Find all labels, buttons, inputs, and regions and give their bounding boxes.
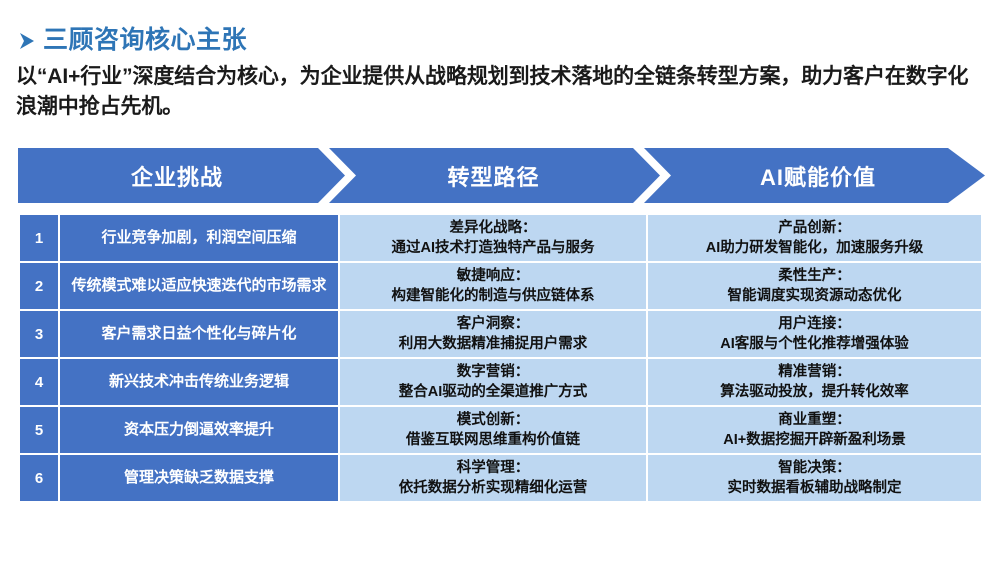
value-cell: 用户连接： AI客服与个性化推荐增强体验	[647, 310, 982, 358]
path-desc: 整合AI驱动的全渠道推广方式	[340, 382, 646, 402]
row-number: 5	[19, 406, 59, 454]
path-desc: 借鉴互联网思维重构价值链	[340, 430, 646, 450]
value-desc: 算法驱动投放，提升转化效率	[648, 382, 981, 402]
table-row: 1 行业竞争加剧，利润空间压缩 差异化战略： 通过AI技术打造独特产品与服务 产…	[19, 214, 982, 262]
path-title: 敏捷响应：	[340, 266, 646, 286]
table-row: 6 管理决策缺乏数据支撑 科学管理： 依托数据分析实现精细化运营 智能决策： 实…	[19, 454, 982, 502]
value-cell: 产品创新： AI助力研发智能化，加速服务升级	[647, 214, 982, 262]
path-cell: 科学管理： 依托数据分析实现精细化运营	[339, 454, 647, 502]
path-title: 客户洞察：	[340, 314, 646, 334]
value-desc: 智能调度实现资源动态优化	[648, 286, 981, 306]
row-number: 1	[19, 214, 59, 262]
value-title: 用户连接：	[648, 314, 981, 334]
path-desc: 构建智能化的制造与供应链体系	[340, 286, 646, 306]
value-title: 柔性生产：	[648, 266, 981, 286]
row-number: 6	[19, 454, 59, 502]
value-title: 智能决策：	[648, 458, 981, 478]
path-title: 差异化战略：	[340, 218, 646, 238]
page-heading: 三顾咨询核心主张	[17, 28, 247, 53]
comparison-table: 1 行业竞争加剧，利润空间压缩 差异化战略： 通过AI技术打造独特产品与服务 产…	[18, 213, 983, 503]
path-cell: 差异化战略： 通过AI技术打造独特产品与服务	[339, 214, 647, 262]
challenge-cell: 新兴技术冲击传统业务逻辑	[59, 358, 339, 406]
arrowhead-bullet-icon	[17, 30, 37, 52]
value-desc: AI助力研发智能化，加速服务升级	[648, 238, 981, 258]
challenge-cell: 资本压力倒逼效率提升	[59, 406, 339, 454]
challenge-cell: 行业竞争加剧，利润空间压缩	[59, 214, 339, 262]
page-subtitle: 以“AI+行业”深度结合为核心，为企业提供从战略规划到技术落地的全链条转型方案，…	[16, 62, 984, 123]
table-body: 1 行业竞争加剧，利润空间压缩 差异化战略： 通过AI技术打造独特产品与服务 产…	[19, 214, 982, 502]
challenge-cell: 客户需求日益个性化与碎片化	[59, 310, 339, 358]
banner-segment-3	[644, 148, 985, 203]
value-desc: AI+数据挖掘开辟新盈利场景	[648, 430, 981, 450]
value-desc: AI客服与个性化推荐增强体验	[648, 334, 981, 354]
table-row: 4 新兴技术冲击传统业务逻辑 数字营销： 整合AI驱动的全渠道推广方式 精准营销…	[19, 358, 982, 406]
banner-segment-1	[18, 148, 345, 203]
path-cell: 敏捷响应： 构建智能化的制造与供应链体系	[339, 262, 647, 310]
path-desc: 通过AI技术打造独特产品与服务	[340, 238, 646, 258]
challenge-cell: 管理决策缺乏数据支撑	[59, 454, 339, 502]
path-title: 模式创新：	[340, 410, 646, 430]
value-title: 商业重塑：	[648, 410, 981, 430]
table-row: 5 资本压力倒逼效率提升 模式创新： 借鉴互联网思维重构价值链 商业重塑： AI…	[19, 406, 982, 454]
value-cell: 精准营销： 算法驱动投放，提升转化效率	[647, 358, 982, 406]
path-cell: 数字营销： 整合AI驱动的全渠道推广方式	[339, 358, 647, 406]
value-desc: 实时数据看板辅助战略制定	[648, 478, 981, 498]
banner-segment-2	[329, 148, 660, 203]
row-number: 3	[19, 310, 59, 358]
table-row: 3 客户需求日益个性化与碎片化 客户洞察： 利用大数据精准捕捉用户需求 用户连接…	[19, 310, 982, 358]
value-title: 产品创新：	[648, 218, 981, 238]
path-title: 科学管理：	[340, 458, 646, 478]
table-row: 2 传统模式难以适应快速迭代的市场需求 敏捷响应： 构建智能化的制造与供应链体系…	[19, 262, 982, 310]
path-desc: 利用大数据精准捕捉用户需求	[340, 334, 646, 354]
path-title: 数字营销：	[340, 362, 646, 382]
process-banner: 企业挑战 转型路径 AI赋能价值	[18, 148, 985, 203]
row-number: 4	[19, 358, 59, 406]
value-cell: 智能决策： 实时数据看板辅助战略制定	[647, 454, 982, 502]
banner-shape	[18, 148, 985, 203]
value-cell: 柔性生产： 智能调度实现资源动态优化	[647, 262, 982, 310]
slide-root: { "heading": { "bullet_icon": "arrowhead…	[0, 0, 1000, 562]
challenge-cell: 传统模式难以适应快速迭代的市场需求	[59, 262, 339, 310]
row-number: 2	[19, 262, 59, 310]
path-cell: 客户洞察： 利用大数据精准捕捉用户需求	[339, 310, 647, 358]
page-title: 三顾咨询核心主张	[43, 28, 247, 53]
path-cell: 模式创新： 借鉴互联网思维重构价值链	[339, 406, 647, 454]
value-cell: 商业重塑： AI+数据挖掘开辟新盈利场景	[647, 406, 982, 454]
value-title: 精准营销：	[648, 362, 981, 382]
path-desc: 依托数据分析实现精细化运营	[340, 478, 646, 498]
